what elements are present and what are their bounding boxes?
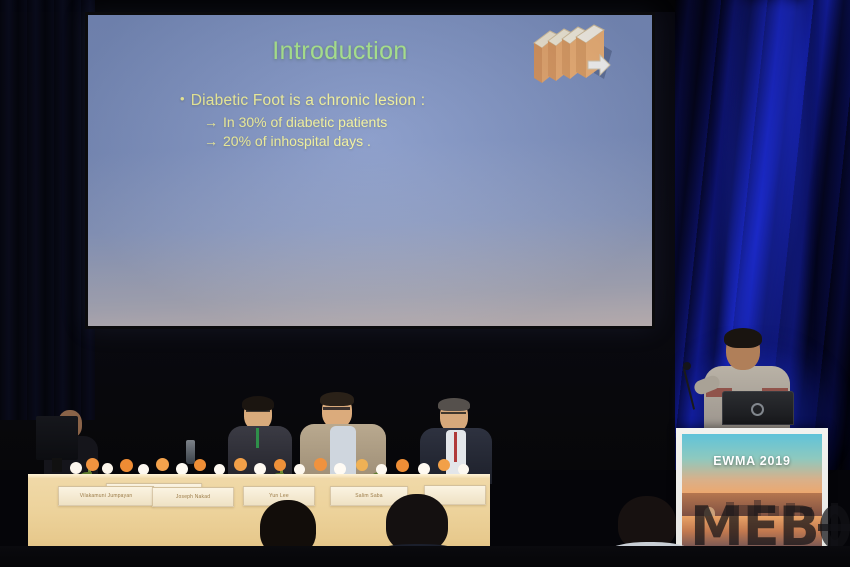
arrow-icon: → — [204, 114, 218, 130]
panelist-hair — [438, 398, 470, 411]
hp-logo-icon — [751, 403, 764, 416]
speaker-hair — [724, 328, 762, 348]
nameplate-panelist-2: Joseph Nakad — [152, 487, 234, 507]
slide-subpoint-1: →In 30% of diabetic patients — [204, 114, 425, 130]
conference-hall-scene: Introduction •Diabetic Foot is a chronic… — [0, 0, 850, 567]
arrow-icon: → — [204, 133, 218, 149]
lanyard — [256, 428, 259, 448]
floor — [0, 546, 850, 567]
bullet-marker: • — [180, 91, 185, 106]
presenter-laptop[interactable] — [722, 391, 794, 425]
stack-of-books-icon — [524, 21, 620, 101]
slide-body: •Diabetic Foot is a chronic lesion : →In… — [180, 91, 425, 152]
panelist-hair — [242, 396, 274, 411]
panelist-glasses-icon — [441, 412, 466, 414]
projection-screen-frame: Introduction •Diabetic Foot is a chronic… — [85, 12, 655, 329]
slide-bullet-line: •Diabetic Foot is a chronic lesion : — [180, 91, 425, 110]
slide-subpoint-1-text: In 30% of diabetic patients — [223, 114, 387, 130]
slide-subpoint-2-text: 20% of inhospital days . — [223, 133, 371, 149]
left-curtain — [0, 0, 95, 420]
microphone-icon — [683, 362, 691, 370]
podium-brand-text: EWMA 2019 — [682, 454, 822, 468]
panelist-hair — [320, 392, 354, 406]
slide-bullet-text: Diabetic Foot is a chronic lesion : — [191, 92, 425, 109]
slide-subpoint-2: →20% of inhospital days . — [204, 133, 425, 149]
panelist-glasses-icon — [246, 410, 270, 412]
nameplate-panelist-1: Vilakamuni Jumpayan — [58, 486, 154, 506]
panelist-glasses-icon — [323, 407, 350, 410]
projected-slide: Introduction •Diabetic Foot is a chronic… — [88, 15, 652, 326]
